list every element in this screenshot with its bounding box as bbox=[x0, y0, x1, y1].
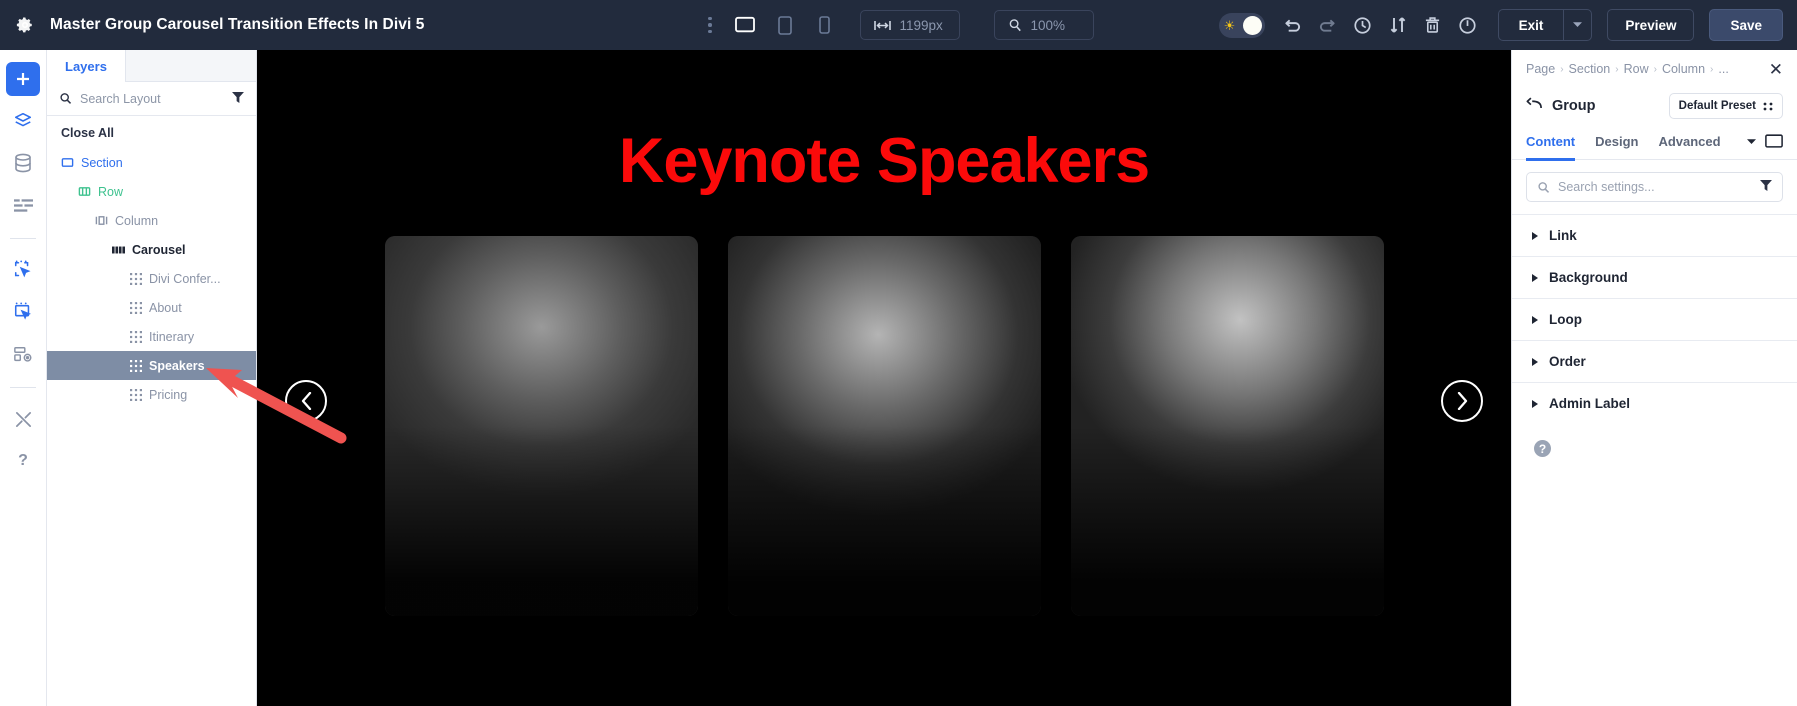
filter-icon[interactable] bbox=[1760, 178, 1772, 196]
breadcrumb-item[interactable]: Column bbox=[1662, 62, 1705, 76]
light-dark-toggle[interactable]: ☀ bbox=[1219, 13, 1265, 38]
settings-section-loop[interactable]: Loop bbox=[1512, 298, 1797, 340]
page-title: Master Group Carousel Transition Effects… bbox=[50, 16, 425, 34]
top-toolbar: Master Group Carousel Transition Effects… bbox=[0, 0, 1797, 50]
exit-button[interactable]: Exit bbox=[1498, 9, 1564, 41]
tab-advanced[interactable]: Advanced bbox=[1658, 124, 1720, 160]
more-options-icon[interactable] bbox=[700, 17, 720, 34]
breadcrumb-item[interactable]: Row bbox=[1624, 62, 1649, 76]
help-button[interactable]: ? bbox=[6, 444, 40, 478]
breadcrumb-item[interactable]: Page bbox=[1526, 62, 1555, 76]
wireframe-button[interactable] bbox=[6, 337, 40, 371]
width-arrows-icon bbox=[874, 20, 891, 31]
layer-item-row[interactable]: Row bbox=[47, 177, 256, 206]
settings-section-label: Loop bbox=[1549, 312, 1582, 327]
layer-item-speakers[interactable]: Speakers bbox=[47, 351, 256, 380]
question-mark-icon: ? bbox=[18, 452, 28, 470]
rail-divider-1 bbox=[10, 238, 36, 239]
speaker-info bbox=[728, 582, 1041, 590]
layers-panel: Layers Search Layout Close All SectionRo… bbox=[47, 50, 257, 706]
canvas-heading: Keynote Speakers bbox=[257, 125, 1511, 197]
settings-tabs: ContentDesignAdvanced bbox=[1512, 124, 1797, 160]
settings-section-order[interactable]: Order bbox=[1512, 340, 1797, 382]
search-icon bbox=[1537, 181, 1550, 194]
expand-triangle-icon bbox=[1532, 400, 1538, 408]
desktop-view-button[interactable] bbox=[730, 10, 760, 40]
desktop-icon[interactable] bbox=[1765, 134, 1783, 149]
undo-button[interactable] bbox=[1278, 10, 1308, 40]
gear-icon[interactable] bbox=[0, 16, 50, 34]
tools-icon bbox=[14, 410, 33, 429]
select-multiple-button[interactable] bbox=[6, 295, 40, 329]
editor-canvas: Keynote Speakers bbox=[257, 50, 1511, 706]
speaker-info bbox=[1071, 582, 1384, 590]
zoom-value: 100% bbox=[1031, 18, 1066, 33]
tab-content[interactable]: Content bbox=[1526, 124, 1575, 160]
panel-help-button[interactable]: ? bbox=[1534, 440, 1551, 457]
wireframe-icon bbox=[13, 345, 33, 364]
close-icon[interactable]: ✕ bbox=[1769, 61, 1783, 78]
layers-button[interactable] bbox=[6, 104, 40, 138]
settings-section-link[interactable]: Link bbox=[1512, 214, 1797, 256]
select-multiple-icon bbox=[13, 302, 33, 323]
breadcrumb-separator: › bbox=[1615, 64, 1618, 75]
chevron-right-icon bbox=[1456, 392, 1469, 410]
select-element-icon bbox=[13, 260, 33, 281]
database-icon bbox=[14, 153, 32, 173]
preview-button[interactable]: Preview bbox=[1607, 9, 1694, 41]
layer-item-label: Carousel bbox=[132, 243, 186, 257]
layer-item-label: Row bbox=[98, 185, 123, 199]
tab-layers[interactable]: Layers bbox=[47, 50, 126, 82]
search-layout-placeholder: Search Layout bbox=[80, 92, 161, 106]
group-icon bbox=[129, 272, 142, 285]
column-icon bbox=[95, 214, 108, 227]
layer-item-label: Divi Confer... bbox=[149, 272, 221, 286]
module-name: Group bbox=[1552, 98, 1596, 114]
layer-item-section[interactable]: Section bbox=[47, 148, 256, 177]
preset-selector[interactable]: Default Preset bbox=[1669, 93, 1783, 119]
speaker-card[interactable] bbox=[728, 236, 1041, 616]
carousel-icon bbox=[112, 243, 125, 256]
settings-search-wrap: Search settings... bbox=[1512, 160, 1797, 214]
breadcrumb-separator: › bbox=[1710, 64, 1713, 75]
settings-search-placeholder: Search settings... bbox=[1558, 180, 1655, 194]
speakers-carousel bbox=[257, 236, 1511, 616]
settings-section-admin-label[interactable]: Admin Label bbox=[1512, 382, 1797, 424]
section-icon bbox=[61, 156, 74, 169]
settings-section-background[interactable]: Background bbox=[1512, 256, 1797, 298]
trash-button[interactable] bbox=[1418, 10, 1448, 40]
carousel-prev-button[interactable] bbox=[285, 380, 327, 422]
layer-item-label: Itinerary bbox=[149, 330, 194, 344]
carousel-next-button[interactable] bbox=[1441, 380, 1483, 422]
layer-item-carousel[interactable]: Carousel bbox=[47, 235, 256, 264]
layer-item-label: Column bbox=[115, 214, 158, 228]
speaker-info bbox=[385, 582, 698, 590]
chevron-down-icon[interactable] bbox=[1747, 139, 1756, 145]
add-button[interactable] bbox=[6, 62, 40, 96]
layers-icon bbox=[13, 111, 33, 131]
tablet-view-button[interactable] bbox=[770, 10, 800, 40]
layer-item-label: About bbox=[149, 301, 182, 315]
tab-design[interactable]: Design bbox=[1595, 124, 1638, 160]
database-button[interactable] bbox=[6, 146, 40, 180]
breadcrumb: Page›Section›Row›Column›...✕ bbox=[1512, 50, 1797, 88]
layer-item-label: Pricing bbox=[149, 388, 187, 402]
zoom-field[interactable]: 100% bbox=[994, 10, 1094, 40]
speaker-card[interactable] bbox=[1071, 236, 1384, 616]
magnifier-icon bbox=[1008, 18, 1022, 32]
layer-item-label: Speakers bbox=[149, 359, 205, 373]
close-all-button[interactable]: Close All bbox=[47, 116, 256, 148]
group-icon bbox=[129, 388, 142, 401]
layer-item-pricing[interactable]: Pricing bbox=[47, 380, 256, 409]
viewport-width-field[interactable]: 1199px bbox=[860, 10, 960, 40]
chevron-down-icon bbox=[1573, 22, 1582, 28]
settings-section-label: Link bbox=[1549, 228, 1577, 243]
expand-triangle-icon bbox=[1532, 358, 1538, 366]
settings-section-label: Background bbox=[1549, 270, 1628, 285]
save-button[interactable]: Save bbox=[1709, 9, 1783, 41]
rail-divider-2 bbox=[10, 387, 36, 388]
layer-item-about[interactable]: About bbox=[47, 293, 256, 322]
breadcrumb-item[interactable]: Section bbox=[1569, 62, 1611, 76]
list-icon bbox=[14, 198, 33, 213]
settings-panel: Page›Section›Row›Column›...✕ Group Defau… bbox=[1511, 50, 1797, 706]
row-icon bbox=[78, 185, 91, 198]
search-icon bbox=[59, 92, 72, 105]
toolbar-right-group: ☀ Exit Preview Save bbox=[1219, 0, 1783, 50]
back-arrow-icon[interactable] bbox=[1526, 97, 1542, 115]
layer-item-divi-confer[interactable]: Divi Confer... bbox=[47, 264, 256, 293]
phone-view-button[interactable] bbox=[810, 10, 840, 40]
exit-dropdown-button[interactable] bbox=[1563, 9, 1592, 41]
toggle-knob bbox=[1243, 16, 1262, 35]
filter-icon[interactable] bbox=[232, 90, 244, 108]
preset-icon bbox=[1763, 102, 1773, 111]
layer-tree: SectionRowColumnCarouselDivi Confer...Ab… bbox=[47, 148, 256, 409]
layer-item-label: Section bbox=[81, 156, 123, 170]
group-icon bbox=[129, 301, 142, 314]
search-layout-field[interactable]: Search Layout bbox=[47, 82, 256, 116]
select-element-button[interactable] bbox=[6, 253, 40, 287]
layers-tabbar: Layers bbox=[47, 50, 256, 82]
breadcrumb-separator: › bbox=[1560, 64, 1563, 75]
list-button[interactable] bbox=[6, 188, 40, 222]
group-icon bbox=[129, 359, 142, 372]
sort-button[interactable] bbox=[1383, 10, 1413, 40]
toolbar-center-group: 1199px 100% bbox=[700, 0, 1094, 50]
module-header: Group Default Preset bbox=[1512, 88, 1797, 124]
left-icon-rail: ? bbox=[0, 50, 47, 706]
expand-triangle-icon bbox=[1532, 316, 1538, 324]
tools-button[interactable] bbox=[6, 402, 40, 436]
settings-sections: LinkBackgroundLoopOrderAdmin Label bbox=[1512, 214, 1797, 424]
sun-icon: ☀ bbox=[1224, 19, 1236, 32]
settings-section-label: Admin Label bbox=[1549, 396, 1630, 411]
redo-button[interactable] bbox=[1313, 10, 1343, 40]
chevron-left-icon bbox=[300, 392, 313, 410]
layer-item-itinerary[interactable]: Itinerary bbox=[47, 322, 256, 351]
breadcrumb-item[interactable]: ... bbox=[1718, 62, 1728, 76]
speaker-card[interactable] bbox=[385, 236, 698, 616]
settings-section-label: Order bbox=[1549, 354, 1586, 369]
plus-icon bbox=[15, 71, 31, 87]
expand-triangle-icon bbox=[1532, 232, 1538, 240]
preset-label: Default Preset bbox=[1679, 100, 1756, 112]
exit-button-group: Exit bbox=[1498, 9, 1593, 41]
group-icon bbox=[129, 330, 142, 343]
settings-search-field[interactable]: Search settings... bbox=[1526, 172, 1783, 202]
power-button[interactable] bbox=[1453, 10, 1483, 40]
tabs-right-controls bbox=[1747, 134, 1783, 149]
history-button[interactable] bbox=[1348, 10, 1378, 40]
breadcrumb-separator: › bbox=[1654, 64, 1657, 75]
expand-triangle-icon bbox=[1532, 274, 1538, 282]
layer-item-column[interactable]: Column bbox=[47, 206, 256, 235]
viewport-width-value: 1199px bbox=[900, 18, 943, 33]
